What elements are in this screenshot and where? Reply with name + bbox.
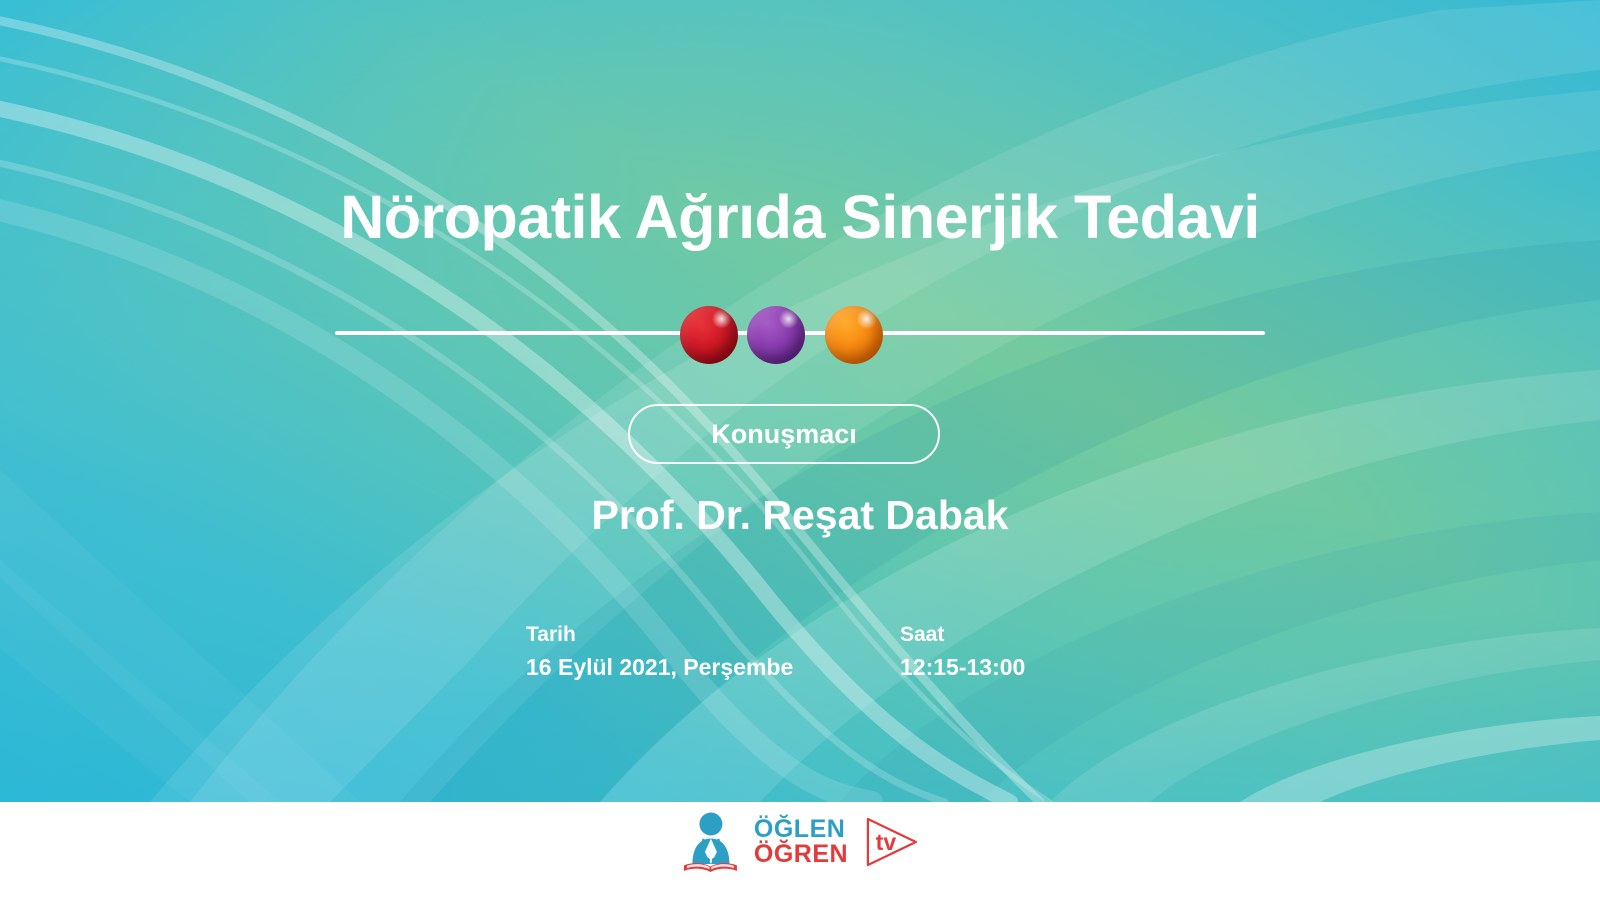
speaker-name: Prof. Dr. Reşat Dabak	[0, 492, 1600, 539]
time-label: Saat	[900, 620, 1025, 650]
tv-play-triangle-icon: tv	[858, 812, 924, 872]
slide-title: Nöropatik Ağrıda Sinerjik Tedavi	[0, 182, 1600, 252]
time-block: Saat 12:15-13:00	[900, 620, 1025, 686]
doctor-reading-book-icon	[676, 807, 746, 877]
event-meta: Tarih 16 Eylül 2021, Perşembe Saat 12:15…	[526, 620, 1025, 686]
red-sphere-icon	[680, 306, 738, 364]
tv-text: tv	[876, 829, 897, 855]
slide-content: Nöropatik Ağrıda Sinerjik Tedavi Konuşma…	[0, 0, 1600, 802]
brand-logo: ÖĞLEN ÖĞREN tv	[676, 806, 924, 878]
time-value: 12:15-13:00	[900, 650, 1025, 686]
brand-wordmark: ÖĞLEN ÖĞREN	[754, 817, 848, 868]
purple-sphere-icon	[747, 306, 805, 364]
decorative-divider	[335, 306, 1265, 362]
date-value: 16 Eylül 2021, Perşembe	[526, 650, 900, 686]
brand-word-ogren: ÖĞREN	[754, 842, 848, 868]
speaker-label-pill: Konuşmacı	[628, 404, 940, 464]
date-label: Tarih	[526, 620, 900, 650]
presentation-slide: Nöropatik Ağrıda Sinerjik Tedavi Konuşma…	[0, 0, 1600, 900]
brand-word-oglen: ÖĞLEN	[754, 817, 848, 843]
orange-sphere-icon	[825, 306, 883, 364]
date-block: Tarih 16 Eylül 2021, Perşembe	[526, 620, 900, 686]
speaker-label-text: Konuşmacı	[711, 419, 857, 450]
